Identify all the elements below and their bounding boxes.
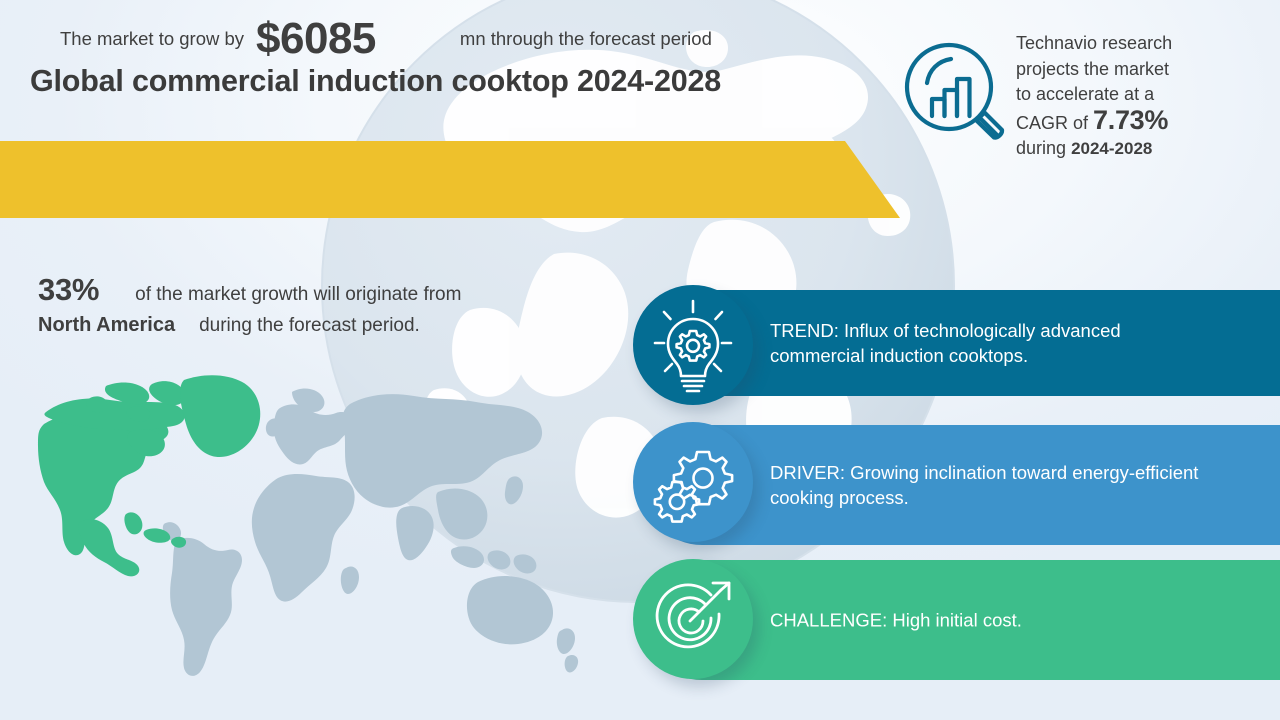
region-name: North America	[38, 314, 175, 337]
cagr-statement: Technavio research projects the market t…	[1016, 31, 1266, 162]
region-share-statement: 33% of the market growth will originate …	[38, 272, 598, 337]
cagr-value: 7.73%	[1093, 105, 1168, 135]
ribbon-tail-label: mn through the forecast period	[460, 28, 712, 50]
market-growth-ribbon	[0, 141, 900, 218]
ribbon-market-value: $6085	[256, 14, 376, 64]
market-growth-ribbon-content: The market to grow by $6085 mn through t…	[60, 0, 712, 77]
gears-icon	[633, 422, 753, 542]
lightbulb-gear-icon	[633, 285, 753, 405]
cagr-during-label: during	[1016, 138, 1066, 158]
region-share-tail: during the forecast period.	[199, 315, 420, 337]
cagr-period: 2024-2028	[1071, 139, 1152, 158]
map-region-north-america	[38, 375, 260, 576]
target-arrow-icon	[633, 559, 753, 679]
cagr-value-row: CAGR of 7.73%	[1016, 108, 1266, 137]
banner-challenge-text: CHALLENGE: High initial cost.	[770, 608, 1200, 633]
region-share-second-line: North America during the forecast period…	[38, 308, 598, 337]
cagr-line-2: projects the market	[1016, 57, 1266, 83]
world-map	[34, 372, 594, 682]
magnifier-bar-chart-icon	[898, 36, 1010, 148]
ribbon-lead-label: The market to grow by	[60, 28, 244, 50]
region-share-percent: 33%	[38, 272, 99, 308]
cagr-line-1: Technavio research	[1016, 31, 1266, 57]
region-share-description: of the market growth will originate from	[135, 284, 461, 306]
banner-trend-text: TREND: Influx of technologically advance…	[770, 318, 1200, 368]
region-share-first-line: 33% of the market growth will originate …	[38, 272, 598, 308]
cagr-label: CAGR of	[1016, 113, 1088, 133]
cagr-period-row: during 2024-2028	[1016, 136, 1266, 162]
infographic-canvas: Global commercial induction cooktop 2024…	[0, 0, 1280, 720]
banner-driver-text: DRIVER: Growing inclination toward energ…	[770, 460, 1200, 510]
